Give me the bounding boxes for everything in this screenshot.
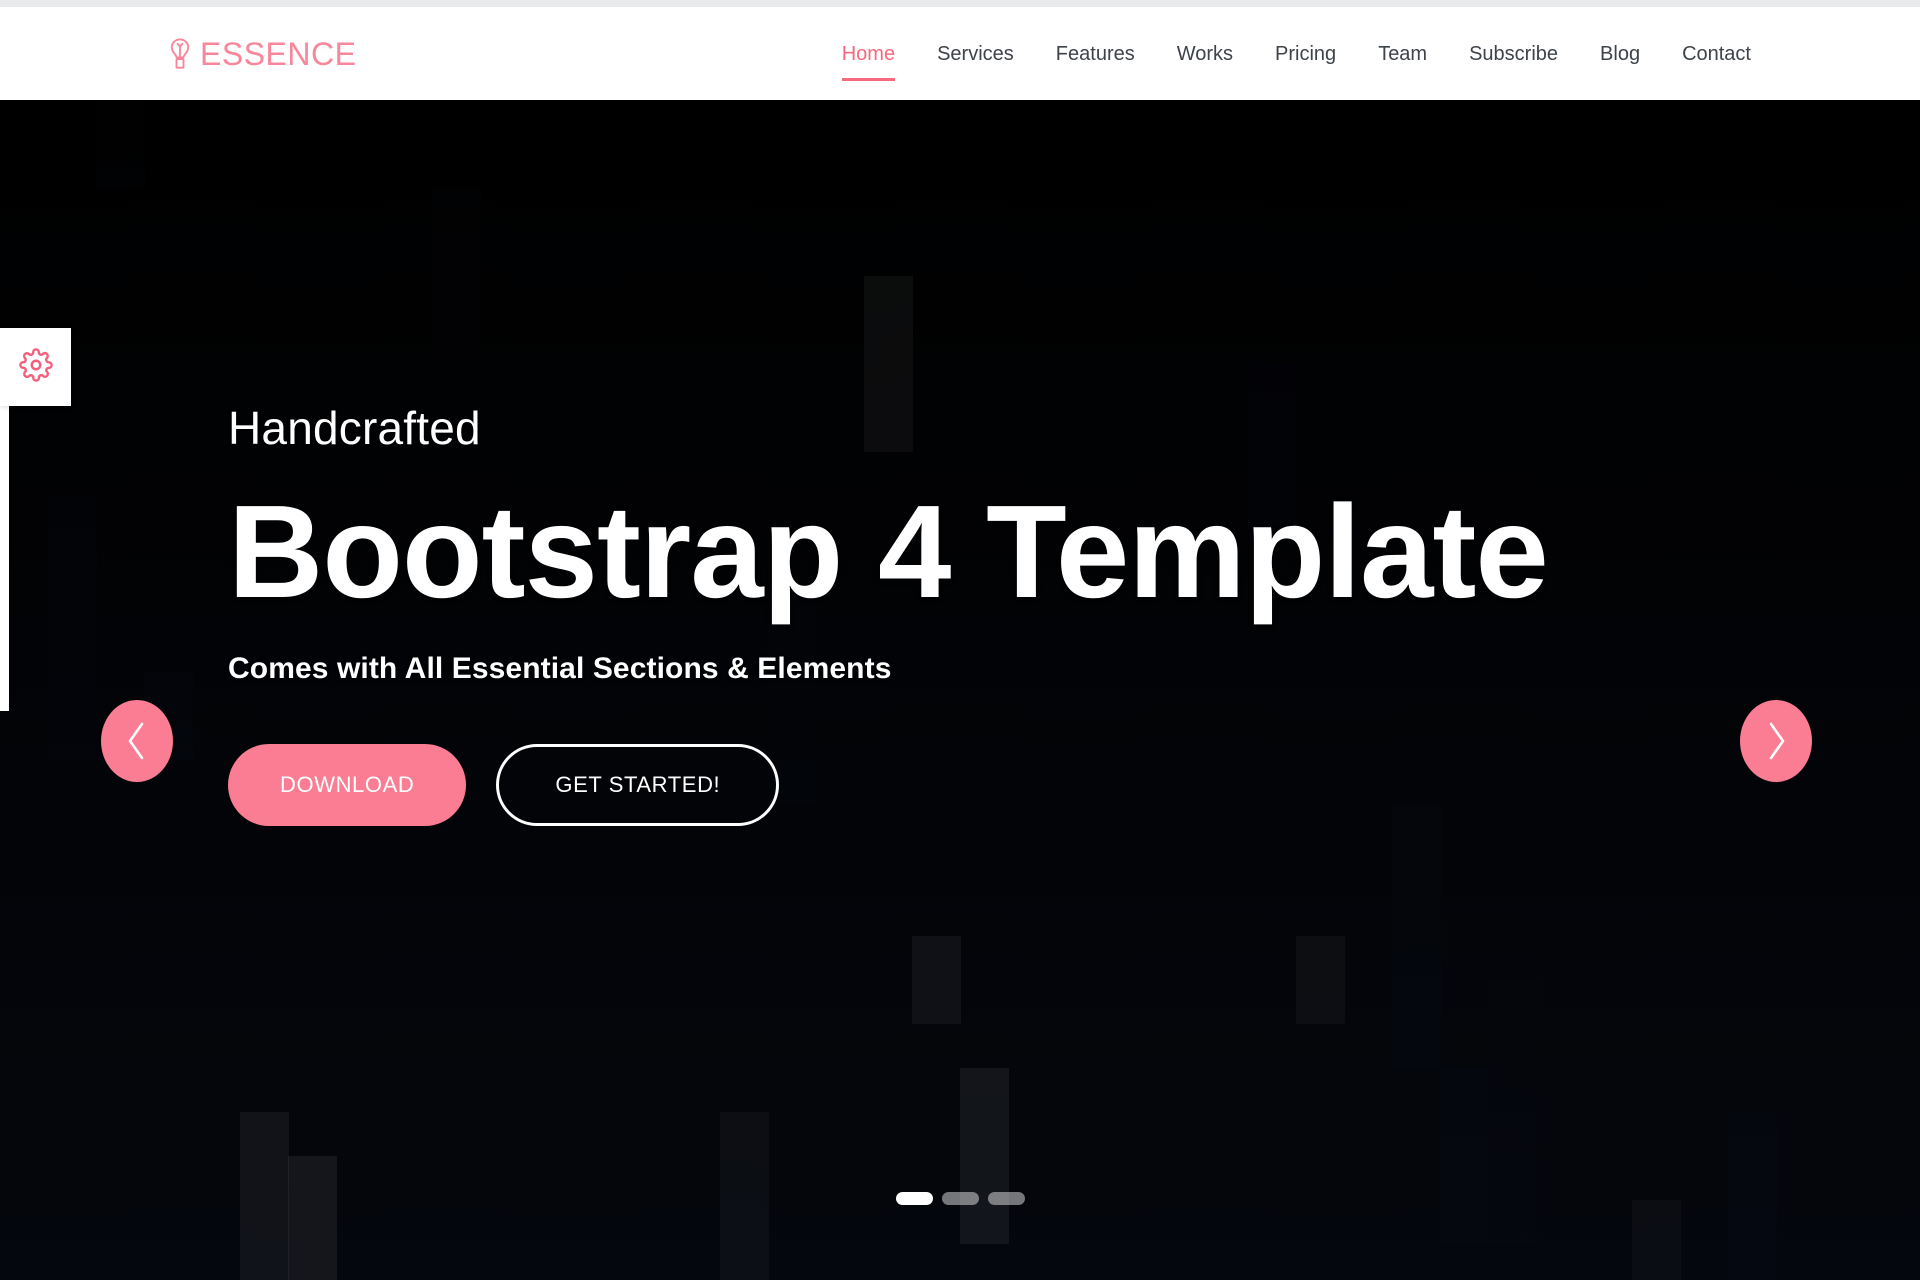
hero-subhead: Comes with All Essential Sections & Elem… [228, 652, 1548, 686]
hero-copy: Handcrafted Bootstrap 4 Template Comes w… [228, 405, 1548, 826]
site-header: ESSENCE Home Services Features Works Pri… [0, 7, 1920, 100]
carousel-indicator-2[interactable] [942, 1192, 979, 1205]
download-button[interactable]: DOWNLOAD [228, 744, 466, 826]
brand-logo[interactable]: ESSENCE [166, 37, 356, 71]
nav-item-blog[interactable]: Blog [1579, 36, 1661, 72]
carousel-prev-button[interactable] [101, 700, 173, 782]
hero-headline: Bootstrap 4 Template [228, 485, 1548, 620]
nav-item-pricing[interactable]: Pricing [1254, 36, 1357, 72]
carousel-indicators [0, 1192, 1920, 1205]
nav-item-contact[interactable]: Contact [1661, 36, 1772, 72]
settings-rail [0, 406, 9, 711]
top-strip [0, 0, 1920, 7]
main-nav: Home Services Features Works Pricing Tea… [821, 36, 1772, 72]
nav-item-works[interactable]: Works [1156, 36, 1254, 72]
get-started-button[interactable]: GET STARTED! [496, 744, 779, 826]
hero-eyebrow: Handcrafted [228, 405, 1548, 451]
carousel-next-button[interactable] [1740, 700, 1812, 782]
carousel-indicator-1[interactable] [896, 1192, 933, 1205]
chevron-left-icon [124, 720, 150, 762]
nav-item-team[interactable]: Team [1357, 36, 1448, 72]
hero-actions: DOWNLOAD GET STARTED! [228, 744, 1548, 826]
hero-carousel: Handcrafted Bootstrap 4 Template Comes w… [0, 100, 1920, 1280]
nav-item-features[interactable]: Features [1035, 36, 1156, 72]
lightbulb-icon [166, 37, 194, 71]
chevron-right-icon [1763, 720, 1789, 762]
brand-name: ESSENCE [200, 38, 356, 70]
nav-item-services[interactable]: Services [916, 36, 1035, 72]
settings-panel-toggle[interactable] [0, 328, 71, 406]
nav-item-subscribe[interactable]: Subscribe [1448, 36, 1579, 72]
carousel-indicator-3[interactable] [988, 1192, 1025, 1205]
gear-icon [19, 348, 53, 387]
landing-page: ESSENCE Home Services Features Works Pri… [0, 0, 1920, 1280]
nav-item-home[interactable]: Home [821, 36, 916, 72]
